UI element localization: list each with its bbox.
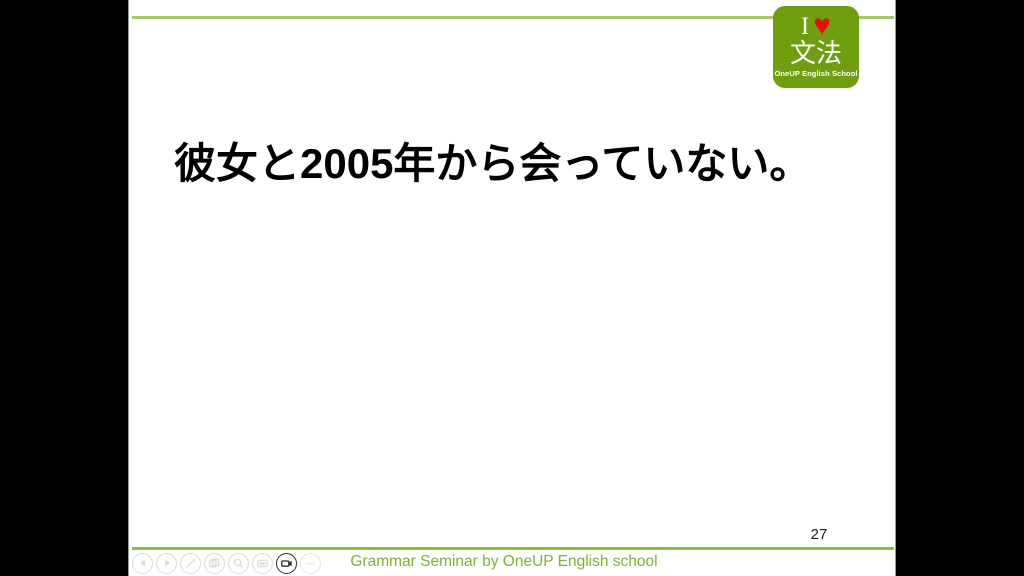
- logo-letter-i: I: [801, 14, 809, 39]
- logo-japanese-text: 文法: [773, 39, 859, 67]
- slide-toolbar[interactable]: [128, 550, 328, 576]
- screen-icon: [256, 557, 269, 570]
- logo-subtitle: OneUP English School: [773, 69, 859, 79]
- slide-overview-button[interactable]: [204, 553, 225, 574]
- pen-icon: [184, 557, 197, 570]
- pen-annotate-button[interactable]: [180, 553, 201, 574]
- slides-grid-icon: [208, 557, 221, 570]
- heart-icon: ♥: [813, 13, 831, 39]
- oneup-logo: I ♥ 文法 OneUP English School: [773, 6, 859, 88]
- video-camera-icon: [280, 557, 293, 570]
- letterbox-left: [0, 0, 128, 576]
- record-video-button[interactable]: [276, 553, 297, 574]
- triangle-right-icon: [161, 557, 173, 569]
- more-options-button[interactable]: [300, 553, 321, 574]
- zoom-button[interactable]: [228, 553, 249, 574]
- previous-slide-button[interactable]: [132, 553, 153, 574]
- logo-i-heart-row: I ♥: [773, 12, 859, 40]
- presentation-screen-button[interactable]: [252, 553, 273, 574]
- letterbox-right: [896, 0, 1024, 576]
- page-number: 27: [789, 526, 849, 543]
- slide-viewer: I ♥ 文法 OneUP English School 彼女と2005年から会っ…: [0, 0, 1024, 576]
- slide-canvas[interactable]: I ♥ 文法 OneUP English School 彼女と2005年から会っ…: [128, 0, 896, 576]
- slide-body-text: 彼女と2005年から会っていない。: [174, 137, 874, 191]
- triangle-left-icon: [137, 557, 149, 569]
- magnifier-icon: [232, 557, 245, 570]
- next-slide-button[interactable]: [156, 553, 177, 574]
- ellipsis-icon: [304, 557, 317, 570]
